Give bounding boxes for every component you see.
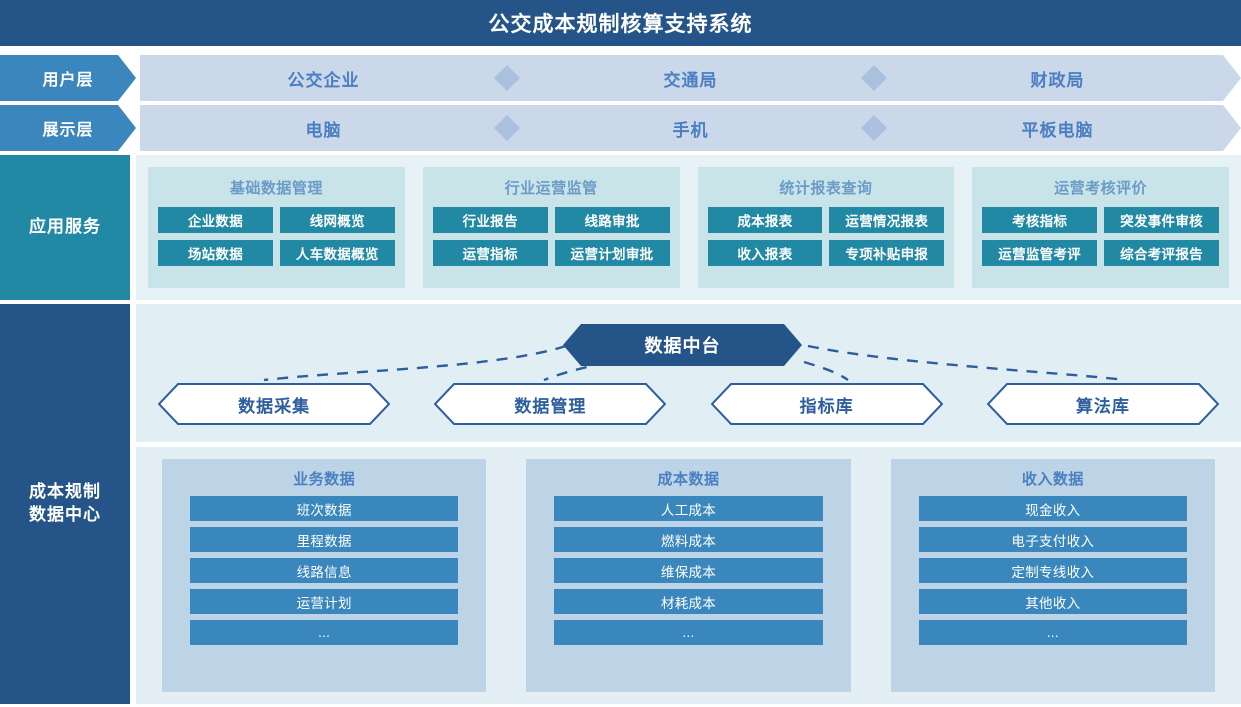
dc-card-revenue-data-title: 收入数据	[1022, 468, 1084, 489]
presentation-layer-item-2[interactable]: 手机	[507, 105, 874, 151]
presentation-layer-item-2-label: 手机	[673, 116, 709, 141]
page-title: 公交成本规制核算支持系统	[489, 8, 753, 38]
hex-node-data-management-label: 数据管理	[434, 383, 666, 425]
app-card-industry-supervision-title: 行业运营监管	[505, 177, 598, 198]
dc-item-other-revenue[interactable]: 其他收入	[919, 589, 1187, 614]
dc-item-custom-route-revenue[interactable]: 定制专线收入	[919, 558, 1187, 583]
app-btn-route-approval[interactable]: 线路审批	[555, 207, 670, 233]
user-layer-item-1[interactable]: 公交企业	[140, 55, 507, 101]
dc-item-fuel-cost[interactable]: 燃料成本	[554, 527, 822, 552]
user-layer-item-1-label: 公交企业	[288, 66, 360, 91]
app-card-basic-data-title: 基础数据管理	[230, 177, 323, 198]
data-center-band: 业务数据 班次数据 里程数据 线路信息 运营计划 ... 成本数据 人工成本 燃…	[136, 447, 1241, 704]
dc-item-epayment-revenue[interactable]: 电子支付收入	[919, 527, 1187, 552]
user-layer-item-2[interactable]: 交通局	[507, 55, 874, 101]
dc-card-business-data: 业务数据 班次数据 里程数据 线路信息 运营计划 ...	[162, 459, 486, 692]
dc-item-labor-cost[interactable]: 人工成本	[554, 496, 822, 521]
dc-item-operation-plan[interactable]: 运营计划	[190, 589, 458, 614]
dc-card-cost-data-title: 成本数据	[657, 468, 719, 489]
app-btn-assessment-indicator[interactable]: 考核指标	[982, 207, 1097, 233]
dc-item-maintenance-cost[interactable]: 维保成本	[554, 558, 822, 583]
app-card-industry-supervision: 行业运营监管 行业报告 线路审批 运营指标 运营计划审批	[423, 167, 680, 288]
user-layer-label-text: 用户层	[42, 66, 93, 90]
app-btn-comprehensive-report[interactable]: 综合考评报告	[1104, 240, 1219, 266]
dc-item-mileage-data[interactable]: 里程数据	[190, 527, 458, 552]
hex-node-indicator-library[interactable]: 指标库	[711, 383, 943, 425]
presentation-layer-band: 电脑 手机 平板电脑	[140, 105, 1241, 151]
presentation-layer-item-1-label: 电脑	[306, 116, 342, 141]
app-card-statistical-report-title: 统计报表查询	[779, 177, 872, 198]
app-card-operation-assessment-title: 运营考核评价	[1054, 177, 1147, 198]
data-center-side-label: 成本规制数据中心	[0, 304, 130, 704]
app-card-statistical-report: 统计报表查询 成本报表 运营情况报表 收入报表 专项补贴申报	[698, 167, 955, 288]
hex-node-data-management[interactable]: 数据管理	[434, 383, 666, 425]
user-layer-label: 用户层	[0, 55, 136, 101]
app-card-operation-assessment: 运营考核评价 考核指标 突发事件审核 运营监管考评 综合考评报告	[972, 167, 1229, 288]
user-layer-item-2-label: 交通局	[664, 66, 718, 91]
app-btn-cost-report[interactable]: 成本报表	[708, 207, 823, 233]
data-hub-node[interactable]: 数据中台	[563, 324, 802, 366]
dc-item-cost-more[interactable]: ...	[554, 620, 822, 645]
user-layer-item-3-label: 财政局	[1031, 66, 1085, 91]
architecture-diagram: 公交成本规制核算支持系统 用户层 公交企业 交通局 财政局 展示层 电脑	[0, 0, 1241, 707]
app-btn-operation-plan-approval[interactable]: 运营计划审批	[555, 240, 670, 266]
presentation-layer-row: 展示层 电脑 手机 平板电脑	[0, 105, 1241, 151]
data-hub-label: 数据中台	[645, 332, 721, 358]
app-btn-special-subsidy-application[interactable]: 专项补贴申报	[829, 240, 944, 266]
user-layer-row: 用户层 公交企业 交通局 财政局	[0, 55, 1241, 101]
hex-node-data-collection[interactable]: 数据采集	[158, 383, 390, 425]
dc-item-revenue-more[interactable]: ...	[919, 620, 1187, 645]
app-btn-depot-data[interactable]: 场站数据	[158, 240, 273, 266]
data-capability-hex-row: 数据采集 数据管理 指标库 算法库	[136, 382, 1241, 426]
presentation-layer-item-3[interactable]: 平板电脑	[874, 105, 1241, 151]
app-btn-emergency-review[interactable]: 突发事件审核	[1104, 207, 1219, 233]
dc-card-revenue-data: 收入数据 现金收入 电子支付收入 定制专线收入 其他收入 ...	[891, 459, 1215, 692]
system-title-bar: 公交成本规制核算支持系统	[0, 0, 1241, 46]
app-btn-staff-vehicle-overview[interactable]: 人车数据概览	[280, 240, 395, 266]
data-middle-platform-band: 数据中台 数据采集 数据管理 指标库	[136, 304, 1241, 442]
hex-node-indicator-library-label: 指标库	[711, 383, 943, 425]
dc-item-business-more[interactable]: ...	[190, 620, 458, 645]
application-service-band: 基础数据管理 企业数据 线网概览 场站数据 人车数据概览 行业运营监管 行业报告…	[136, 155, 1241, 300]
app-btn-enterprise-data[interactable]: 企业数据	[158, 207, 273, 233]
hex-node-algorithm-library[interactable]: 算法库	[987, 383, 1219, 425]
dc-item-shift-data[interactable]: 班次数据	[190, 496, 458, 521]
user-layer-band: 公交企业 交通局 财政局	[140, 55, 1241, 101]
app-btn-operation-status-report[interactable]: 运营情况报表	[829, 207, 944, 233]
dc-item-cash-revenue[interactable]: 现金收入	[919, 496, 1187, 521]
dc-item-route-info[interactable]: 线路信息	[190, 558, 458, 583]
hex-node-data-collection-label: 数据采集	[158, 383, 390, 425]
application-service-side-label: 应用服务	[0, 155, 130, 300]
presentation-layer-label: 展示层	[0, 105, 136, 151]
hex-node-algorithm-library-label: 算法库	[987, 383, 1219, 425]
app-btn-operation-indicator[interactable]: 运营指标	[433, 240, 548, 266]
presentation-layer-item-3-label: 平板电脑	[1022, 116, 1094, 141]
dc-card-cost-data: 成本数据 人工成本 燃料成本 维保成本 材耗成本 ...	[526, 459, 850, 692]
app-btn-industry-report[interactable]: 行业报告	[433, 207, 548, 233]
dc-item-material-cost[interactable]: 材耗成本	[554, 589, 822, 614]
user-layer-item-3[interactable]: 财政局	[874, 55, 1241, 101]
presentation-layer-item-1[interactable]: 电脑	[140, 105, 507, 151]
app-btn-supervision-evaluation[interactable]: 运营监管考评	[982, 240, 1097, 266]
dc-card-business-data-title: 业务数据	[293, 468, 355, 489]
application-service-label-text: 应用服务	[29, 216, 101, 239]
app-btn-revenue-report[interactable]: 收入报表	[708, 240, 823, 266]
app-card-basic-data: 基础数据管理 企业数据 线网概览 场站数据 人车数据概览	[148, 167, 405, 288]
data-center-label-text: 成本规制数据中心	[29, 481, 101, 527]
app-btn-network-overview[interactable]: 线网概览	[280, 207, 395, 233]
presentation-layer-label-text: 展示层	[42, 116, 93, 140]
